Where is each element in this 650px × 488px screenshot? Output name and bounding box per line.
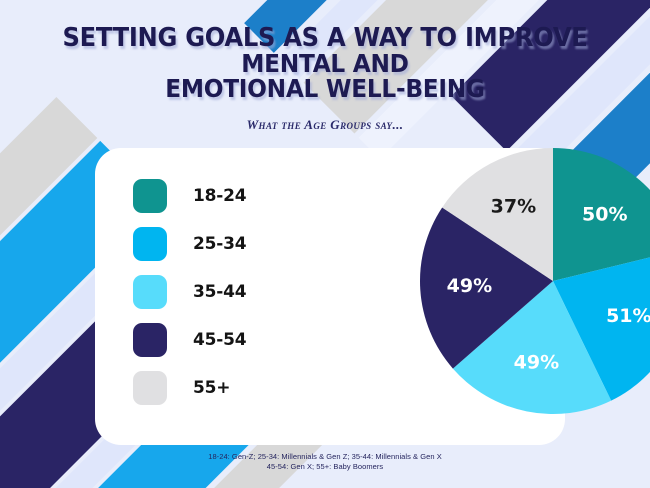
chart-legend: 18-24 25-34 35-44 45-54 55+ [133,172,246,412]
legend-label-55-plus: 55+ [193,378,230,398]
pie-chart: 50%51%49%49%37% [360,148,650,445]
legend-swatch-45-54 [133,323,167,357]
title-line-1: Setting Goals as a Way to Improve [23,26,628,51]
legend-item-55-plus[interactable]: 55+ [133,364,246,412]
pie-chart-svg: 50%51%49%49%37% [360,148,650,445]
legend-label-25-34: 25-34 [193,234,246,254]
pie-label-18-24: 50% [582,204,627,226]
legend-item-45-54[interactable]: 45-54 [133,316,246,364]
legend-swatch-35-44 [133,275,167,309]
legend-label-18-24: 18-24 [193,186,246,206]
legend-swatch-55-plus [133,371,167,405]
legend-label-45-54: 45-54 [193,330,246,350]
pie-label-55+: 37% [491,196,536,218]
chart-card: 18-24 25-34 35-44 45-54 55+ 50%51%49%49%… [95,148,565,445]
title-line-3: Emotional Well-being [23,76,628,101]
footnote: 18-24: Gen-Z; 25-34: Millennials & Gen Z… [0,452,650,472]
legend-swatch-25-34 [133,227,167,261]
pie-label-45-54: 49% [447,275,492,297]
legend-item-35-44[interactable]: 35-44 [133,268,246,316]
pie-label-35-44: 49% [514,352,559,374]
footnote-line-1: 18-24: Gen-Z; 25-34: Millennials & Gen Z… [0,452,650,462]
subtitle: What the Age Groups say... [0,117,650,133]
legend-swatch-18-24 [133,179,167,213]
footnote-line-2: 45-54: Gen X; 55+: Baby Boomers [0,462,650,472]
legend-label-35-44: 35-44 [193,282,246,302]
legend-item-25-34[interactable]: 25-34 [133,220,246,268]
title-line-2: Mental and [23,51,628,76]
legend-item-18-24[interactable]: 18-24 [133,172,246,220]
pie-label-25-34: 51% [606,305,650,327]
page-title: Setting Goals as a Way to Improve Mental… [23,26,628,101]
header: Setting Goals as a Way to Improve Mental… [0,26,650,133]
